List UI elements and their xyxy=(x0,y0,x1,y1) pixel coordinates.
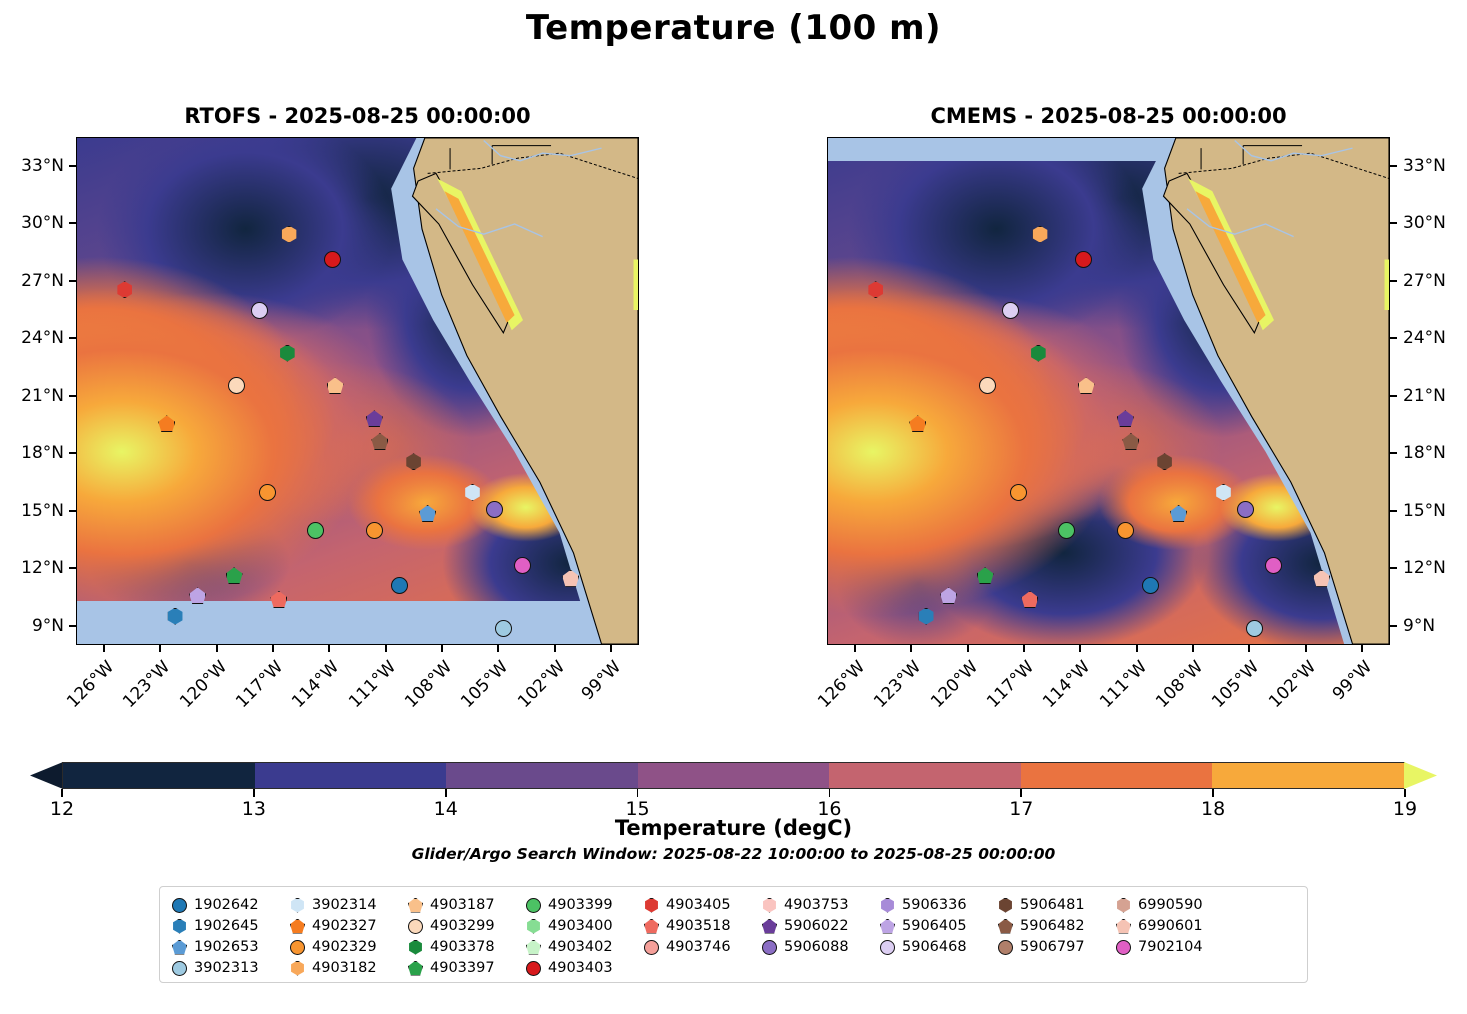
y-tick-label: 24°N xyxy=(1403,328,1446,348)
x-tick xyxy=(610,645,612,652)
legend-marker-icon xyxy=(290,919,305,934)
platform-marker-4902329[interactable] xyxy=(366,522,383,539)
platform-marker-4903299[interactable] xyxy=(979,377,996,394)
y-tick xyxy=(1390,395,1397,397)
x-tick xyxy=(328,645,330,652)
legend-marker-icon xyxy=(290,898,305,913)
legend-marker-icon xyxy=(526,898,541,913)
legend-item[interactable]: 4903405 xyxy=(644,896,762,914)
platform-marker-5906022[interactable] xyxy=(366,410,383,427)
x-tick xyxy=(441,645,443,652)
legend-item-label: 5906797 xyxy=(1020,939,1085,955)
y-tick-label: 9°N xyxy=(4,616,64,636)
colorbar-band-2 xyxy=(446,763,638,788)
legend-item-label: 5906468 xyxy=(902,939,967,955)
platform-marker-4903299[interactable] xyxy=(228,377,245,394)
y-tick-label: 18°N xyxy=(4,443,64,463)
colorbar-tick xyxy=(61,789,63,797)
colorbar-tick xyxy=(445,789,447,797)
legend-item-label: 1902645 xyxy=(194,918,259,934)
platform-marker-4902329[interactable] xyxy=(1117,522,1134,539)
colorbar-extend-high xyxy=(1404,762,1437,789)
x-tick xyxy=(1079,645,1081,652)
y-tick xyxy=(1390,280,1397,282)
x-tick xyxy=(554,645,556,652)
platform-marker-4903405[interactable] xyxy=(867,281,884,298)
legend-column: 490375359060225906088 xyxy=(762,896,880,982)
platform-marker-1902653[interactable] xyxy=(419,505,436,522)
legend-marker-icon xyxy=(408,961,423,976)
legend-item-label: 4903518 xyxy=(666,918,731,934)
y-tick xyxy=(1390,625,1397,627)
y-tick xyxy=(1390,165,1397,167)
y-tick-label: 15°N xyxy=(4,501,64,521)
x-tick-label: 120°W xyxy=(921,657,982,718)
legend-item[interactable]: 3902313 xyxy=(172,959,290,977)
legend-marker-icon xyxy=(526,919,541,934)
panel-cmems-title: CMEMS - 2025-08-25 00:00:00 xyxy=(827,104,1390,128)
platform-marker-1902645[interactable] xyxy=(918,608,935,625)
platform-marker-4903405[interactable] xyxy=(116,281,133,298)
platform-marker-4903518[interactable] xyxy=(1021,591,1038,608)
platform-marker-7902104[interactable] xyxy=(1265,557,1282,574)
platform-marker-5906088[interactable] xyxy=(1237,501,1254,518)
map-canvas-cmems[interactable] xyxy=(827,137,1390,645)
platform-marker-1902653[interactable] xyxy=(1170,505,1187,522)
x-tick-label: 99°W xyxy=(564,657,625,718)
x-tick-label: 126°W xyxy=(808,657,869,718)
legend-marker-icon xyxy=(998,940,1013,955)
y-tick xyxy=(1390,510,1397,512)
colorbar-band-1 xyxy=(255,763,447,788)
legend-item[interactable]: 4903378 xyxy=(408,938,526,956)
platform-marker-5906482[interactable] xyxy=(1122,433,1139,450)
legend-marker-icon xyxy=(644,940,659,955)
y-tick xyxy=(69,395,76,397)
platform-marker-1902642[interactable] xyxy=(1142,577,1159,594)
legend-marker-icon xyxy=(762,940,777,955)
x-tick xyxy=(272,645,274,652)
x-tick-label: 123°W xyxy=(114,657,175,718)
platform-marker-3902313[interactable] xyxy=(495,620,512,637)
legend-item-label: 4903187 xyxy=(430,897,495,913)
legend-item-label: 4903403 xyxy=(548,960,613,976)
legend-marker-icon xyxy=(408,940,423,955)
legend-marker-icon xyxy=(526,940,541,955)
x-tick xyxy=(910,645,912,652)
legend-item[interactable]: 4903397 xyxy=(408,959,526,977)
figure-title: Temperature (100 m) xyxy=(0,8,1467,48)
platform-marker-4903182[interactable] xyxy=(281,226,298,243)
legend-marker-icon xyxy=(644,898,659,913)
x-tick-label: 126°W xyxy=(57,657,118,718)
y-tick xyxy=(69,280,76,282)
y-tick-label: 21°N xyxy=(1403,386,1446,406)
x-tick-label: 120°W xyxy=(170,657,231,718)
platform-marker-4903378[interactable] xyxy=(1030,345,1047,362)
x-tick-label: 102°W xyxy=(1259,657,1320,718)
platform-marker-4903187[interactable] xyxy=(327,377,344,394)
legend-marker-icon xyxy=(880,919,895,934)
legend-item[interactable]: 5906405 xyxy=(880,917,998,935)
legend-marker-icon xyxy=(1116,919,1131,934)
map-canvas-rtofs[interactable] xyxy=(76,137,639,645)
legend-marker-icon xyxy=(998,919,1013,934)
colorbar-band-6 xyxy=(1212,763,1404,788)
y-tick xyxy=(69,567,76,569)
colorbar-tick xyxy=(1404,789,1406,797)
colorbar-band-5 xyxy=(1021,763,1213,788)
platform-marker-5906481[interactable] xyxy=(1156,453,1173,470)
legend-column: 4903399490340049034024903403 xyxy=(526,896,644,982)
legend-item-label: 4903299 xyxy=(430,918,495,934)
legend-item-label: 5906088 xyxy=(784,939,849,955)
platform-marker-4903397[interactable] xyxy=(977,567,994,584)
x-tick-label: 117°W xyxy=(226,657,287,718)
legend-item-label: 4903405 xyxy=(666,897,731,913)
colorbar-title: Temperature (degC) xyxy=(0,816,1467,840)
platform-marker-4902329[interactable] xyxy=(259,484,276,501)
platform-marker-5906022[interactable] xyxy=(1117,410,1134,427)
x-tick-label: 111°W xyxy=(339,657,400,718)
colorbar-tick xyxy=(637,789,639,797)
legend-item[interactable]: 4903400 xyxy=(526,917,644,935)
platform-marker-4902327[interactable] xyxy=(909,415,926,432)
x-tick xyxy=(497,645,499,652)
x-tick-label: 108°W xyxy=(1146,657,1207,718)
y-tick-label: 24°N xyxy=(4,328,64,348)
legend-marker-icon xyxy=(290,961,305,976)
x-tick xyxy=(1023,645,1025,652)
y-tick-label: 18°N xyxy=(1403,443,1446,463)
x-tick xyxy=(967,645,969,652)
platform-marker-3902314[interactable] xyxy=(464,484,481,501)
legend-marker-icon xyxy=(762,898,777,913)
platform-marker-3902314[interactable] xyxy=(1215,484,1232,501)
search-window-caption: Glider/Argo Search Window: 2025-08-22 10… xyxy=(0,845,1467,863)
legend-marker-icon xyxy=(408,919,423,934)
east-coast-water xyxy=(634,259,638,310)
legend-item-label: 5906336 xyxy=(902,897,967,913)
legend-marker-icon xyxy=(172,919,187,934)
colorbar-band-4 xyxy=(829,763,1021,788)
x-tick-label: 108°W xyxy=(395,657,456,718)
y-tick-label: 27°N xyxy=(4,271,64,291)
colorbar-tick xyxy=(1020,789,1022,797)
colorbar-tick xyxy=(1212,789,1214,797)
platform-marker-1902645[interactable] xyxy=(167,608,184,625)
legend-item[interactable]: 6990601 xyxy=(1116,917,1234,935)
x-tick-label: 105°W xyxy=(452,657,513,718)
panel-cmems: CMEMS - 2025-08-25 00:00:00 9°N12°N15°N1… xyxy=(827,137,1390,645)
legend-item-label: 5906022 xyxy=(784,918,849,934)
y-tick-label: 30°N xyxy=(1403,213,1446,233)
platform-marker-3902313[interactable] xyxy=(1246,620,1263,637)
legend-item[interactable]: 4903187 xyxy=(408,896,526,914)
legend-column: 1902642190264519026533902313 xyxy=(172,896,290,982)
platform-marker-6990601[interactable] xyxy=(562,570,579,587)
legend-marker-icon xyxy=(172,898,187,913)
legend-item-label: 1902653 xyxy=(194,939,259,955)
platform-marker-5906468[interactable] xyxy=(251,302,268,319)
x-tick xyxy=(1192,645,1194,652)
platform-marker-4903182[interactable] xyxy=(1032,226,1049,243)
legend-item[interactable]: 4902327 xyxy=(290,917,408,935)
legend-item[interactable]: 4903746 xyxy=(644,938,762,956)
x-tick-label: 99°W xyxy=(1315,657,1376,718)
x-tick-label: 123°W xyxy=(865,657,926,718)
colorbar-extend-low xyxy=(30,762,63,789)
platform-marker-4903397[interactable] xyxy=(226,567,243,584)
x-tick-label: 114°W xyxy=(1034,657,1095,718)
y-tick xyxy=(69,222,76,224)
y-tick xyxy=(69,452,76,454)
legend-item-label: 3902314 xyxy=(312,897,377,913)
legend-marker-icon xyxy=(290,940,305,955)
y-tick-label: 12°N xyxy=(4,558,64,578)
platform-marker-5906405[interactable] xyxy=(940,587,957,604)
platform-marker-4903403[interactable] xyxy=(1075,251,1092,268)
y-tick-label: 30°N xyxy=(4,213,64,233)
x-tick xyxy=(1305,645,1307,652)
platform-marker-5906405[interactable] xyxy=(189,587,206,604)
y-tick xyxy=(69,625,76,627)
legend-marker-icon xyxy=(762,919,777,934)
legend-item-label: 4903746 xyxy=(666,939,731,955)
legend-item[interactable]: 4903402 xyxy=(526,938,644,956)
x-tick xyxy=(1361,645,1363,652)
legend-item[interactable]: 5906481 xyxy=(998,896,1116,914)
platform-marker-4903378[interactable] xyxy=(279,345,296,362)
platform-marker-4903187[interactable] xyxy=(1078,377,1095,394)
x-tick xyxy=(1136,645,1138,652)
platform-marker-4903403[interactable] xyxy=(324,251,341,268)
y-tick xyxy=(69,510,76,512)
legend-item[interactable]: 3902314 xyxy=(290,896,408,914)
legend-item[interactable]: 4903399 xyxy=(526,896,644,914)
x-tick xyxy=(216,645,218,652)
platform-marker-7902104[interactable] xyxy=(514,557,531,574)
legend-column: 699059069906017902104 xyxy=(1116,896,1234,982)
y-tick-label: 21°N xyxy=(4,386,64,406)
platform-marker-4903399[interactable] xyxy=(1058,522,1075,539)
legend-item[interactable]: 5906468 xyxy=(880,938,998,956)
legend-column: 490340549035184903746 xyxy=(644,896,762,982)
platform-marker-6990601[interactable] xyxy=(1313,570,1330,587)
colorbar-tick xyxy=(829,789,831,797)
legend-item-label: 4903400 xyxy=(548,918,613,934)
x-tick-label: 105°W xyxy=(1203,657,1264,718)
y-tick-label: 33°N xyxy=(1403,156,1446,176)
legend-item[interactable]: 7902104 xyxy=(1116,938,1234,956)
legend-item-label: 4902327 xyxy=(312,918,377,934)
legend-item-label: 5906405 xyxy=(902,918,967,934)
legend-item[interactable]: 5906797 xyxy=(998,938,1116,956)
platform-marker-5906088[interactable] xyxy=(486,501,503,518)
y-tick-label: 9°N xyxy=(1403,616,1435,636)
legend-item[interactable]: 1902645 xyxy=(172,917,290,935)
platform-marker-1902642[interactable] xyxy=(391,577,408,594)
legend-item[interactable]: 4903403 xyxy=(526,959,644,977)
legend-column: 3902314490232749023294903182 xyxy=(290,896,408,982)
x-tick xyxy=(385,645,387,652)
legend-marker-icon xyxy=(644,919,659,934)
legend-marker-icon xyxy=(1116,940,1131,955)
y-tick-label: 12°N xyxy=(1403,558,1446,578)
colorbar-tick xyxy=(253,789,255,797)
legend-item[interactable]: 4903753 xyxy=(762,896,880,914)
legend-marker-icon xyxy=(880,940,895,955)
legend-item[interactable]: 4903299 xyxy=(408,917,526,935)
legend-item-label: 4903402 xyxy=(548,939,613,955)
colorbar-bands xyxy=(62,762,1405,789)
colorbar-band-0 xyxy=(63,763,255,788)
legend-marker-icon xyxy=(998,898,1013,913)
colorbar-band-3 xyxy=(638,763,830,788)
panel-rtofs-title: RTOFS - 2025-08-25 00:00:00 xyxy=(76,104,639,128)
platform-legend[interactable]: 1902642190264519026533902313390231449023… xyxy=(159,886,1308,983)
legend-item[interactable]: 1902653 xyxy=(172,938,290,956)
legend-item-label: 5906482 xyxy=(1020,918,1085,934)
y-tick xyxy=(1390,337,1397,339)
legend-item-label: 6990601 xyxy=(1138,918,1203,934)
y-tick xyxy=(1390,567,1397,569)
platform-marker-4902329[interactable] xyxy=(1010,484,1027,501)
legend-column: 590648159064825906797 xyxy=(998,896,1116,982)
legend-item[interactable]: 4903518 xyxy=(644,917,762,935)
y-tick-label: 15°N xyxy=(1403,501,1446,521)
x-tick xyxy=(854,645,856,652)
y-tick xyxy=(69,337,76,339)
legend-item-label: 3902313 xyxy=(194,960,259,976)
platform-marker-4903518[interactable] xyxy=(270,591,287,608)
legend-item-label: 4902329 xyxy=(312,939,377,955)
legend-item[interactable]: 6990590 xyxy=(1116,896,1234,914)
legend-marker-icon xyxy=(172,961,187,976)
legend-marker-icon xyxy=(526,961,541,976)
platform-marker-5906468[interactable] xyxy=(1002,302,1019,319)
colorbar[interactable]: 1213141516171819 xyxy=(30,762,1437,789)
y-tick-label: 33°N xyxy=(4,156,64,176)
x-tick-label: 114°W xyxy=(283,657,344,718)
x-tick-label: 111°W xyxy=(1090,657,1151,718)
legend-item-label: 1902642 xyxy=(194,897,259,913)
platform-marker-4902327[interactable] xyxy=(158,415,175,432)
y-tick xyxy=(1390,222,1397,224)
legend-item[interactable]: 5906482 xyxy=(998,917,1116,935)
east-coast-water xyxy=(1385,259,1389,310)
legend-marker-icon xyxy=(408,898,423,913)
legend-item[interactable]: 1902642 xyxy=(172,896,290,914)
legend-item-label: 4903397 xyxy=(430,960,495,976)
legend-item-label: 7902104 xyxy=(1138,939,1203,955)
panel-rtofs: RTOFS - 2025-08-25 00:00:00 9°N12°N15°N1… xyxy=(76,137,639,645)
legend-column: 590633659064055906468 xyxy=(880,896,998,982)
x-tick-label: 117°W xyxy=(977,657,1038,718)
platform-marker-5906482[interactable] xyxy=(371,433,388,450)
legend-column: 4903187490329949033784903397 xyxy=(408,896,526,982)
y-tick xyxy=(1390,452,1397,454)
legend-marker-icon xyxy=(1116,898,1131,913)
x-tick xyxy=(103,645,105,652)
legend-item[interactable]: 5906088 xyxy=(762,938,880,956)
legend-item[interactable]: 5906336 xyxy=(880,896,998,914)
legend-marker-icon xyxy=(172,940,187,955)
legend-item-label: 4903753 xyxy=(784,897,849,913)
legend-item-label: 4903378 xyxy=(430,939,495,955)
platform-marker-5906481[interactable] xyxy=(405,453,422,470)
legend-item-label: 5906481 xyxy=(1020,897,1085,913)
legend-item[interactable]: 4903182 xyxy=(290,959,408,977)
x-tick-label: 102°W xyxy=(508,657,569,718)
y-tick xyxy=(69,165,76,167)
legend-item[interactable]: 4902329 xyxy=(290,938,408,956)
x-tick xyxy=(159,645,161,652)
legend-marker-icon xyxy=(880,898,895,913)
legend-item-label: 4903399 xyxy=(548,897,613,913)
legend-item-label: 4903182 xyxy=(312,960,377,976)
x-tick xyxy=(1248,645,1250,652)
y-tick-label: 27°N xyxy=(1403,271,1446,291)
legend-item[interactable]: 5906022 xyxy=(762,917,880,935)
platform-marker-4903399[interactable] xyxy=(307,522,324,539)
legend-item-label: 6990590 xyxy=(1138,897,1203,913)
